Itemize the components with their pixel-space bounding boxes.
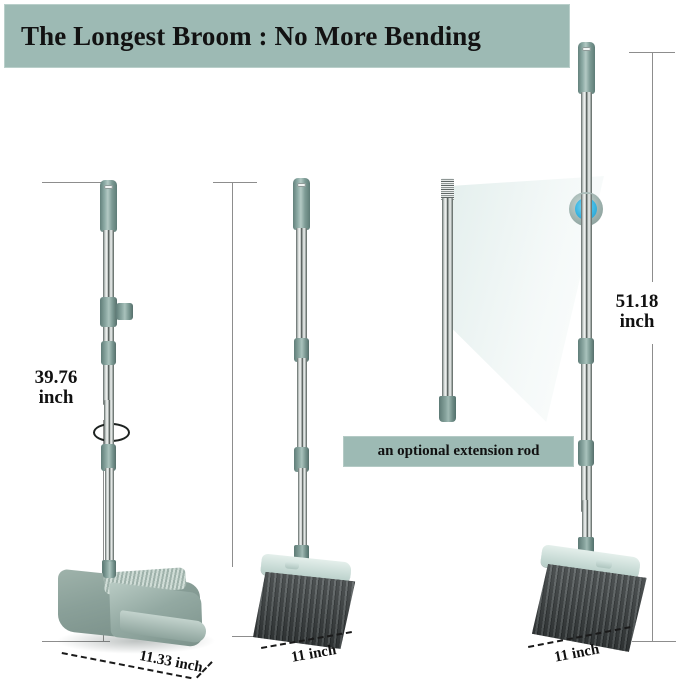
title-banner: The Longest Broom : No More Bending bbox=[4, 4, 570, 68]
right-dimension-label: 51.18 inch bbox=[598, 292, 676, 332]
extension-rod-callout: an optional extension rod bbox=[343, 436, 574, 467]
dustpan-pole-socket bbox=[103, 562, 116, 578]
broom2-bristle-shading bbox=[253, 571, 356, 650]
broom4-width-label: 11 inch bbox=[553, 641, 601, 666]
middle-dimension-bottom-tick bbox=[232, 636, 254, 637]
broom4-hang-hole-icon bbox=[582, 47, 591, 51]
right-dimension-value: 51.18 bbox=[616, 291, 659, 312]
right-dimension-line-lower bbox=[652, 344, 653, 642]
middle-dimension-top-tick bbox=[213, 182, 257, 183]
broom4-bristle-shading bbox=[531, 563, 647, 653]
left-dimension-label: 39.76 inch bbox=[4, 368, 108, 408]
broom2-pole-upper bbox=[296, 228, 307, 348]
broom4-bristles bbox=[531, 563, 647, 653]
extension-rod-shaft bbox=[442, 198, 453, 401]
right-dimension-line-upper bbox=[652, 52, 653, 282]
right-dimension-bottom-tick bbox=[632, 641, 676, 642]
broom2-width-label: 11 inch bbox=[290, 642, 338, 667]
broom2-hang-hole-icon bbox=[297, 183, 306, 187]
broom1-bracket-collar bbox=[100, 297, 117, 327]
broom1-bracket-arm bbox=[116, 303, 133, 320]
broom2-pole-lower bbox=[298, 468, 307, 553]
broom1-pole-lower bbox=[105, 468, 114, 569]
broom2-bristles bbox=[253, 571, 356, 650]
broom1-lower-collar bbox=[101, 444, 116, 471]
broom4-joint-collar-lower bbox=[578, 440, 594, 466]
extension-rod-callout-label: an optional extension rod bbox=[378, 443, 540, 460]
extension-rod-threaded-tip bbox=[441, 178, 454, 200]
broom1-hang-hole-icon bbox=[104, 185, 113, 189]
broom2-head-plate-latch bbox=[285, 561, 300, 569]
left-dimension-unit: inch bbox=[4, 388, 108, 408]
broom1-joint-collar bbox=[101, 341, 116, 365]
page-title: The Longest Broom : No More Bending bbox=[5, 21, 481, 52]
broom2-pole-mid bbox=[297, 358, 307, 453]
middle-dimension-line bbox=[232, 182, 233, 567]
infographic-canvas: The Longest Broom : No More Bending 39.7… bbox=[0, 0, 679, 681]
right-dimension-unit: inch bbox=[598, 312, 676, 332]
broom4-pole-mid bbox=[581, 222, 592, 512]
broom4-joint-collar-upper bbox=[578, 338, 594, 364]
left-dimension-value: 39.76 bbox=[35, 367, 78, 388]
extension-rod-end-cap bbox=[439, 396, 456, 422]
